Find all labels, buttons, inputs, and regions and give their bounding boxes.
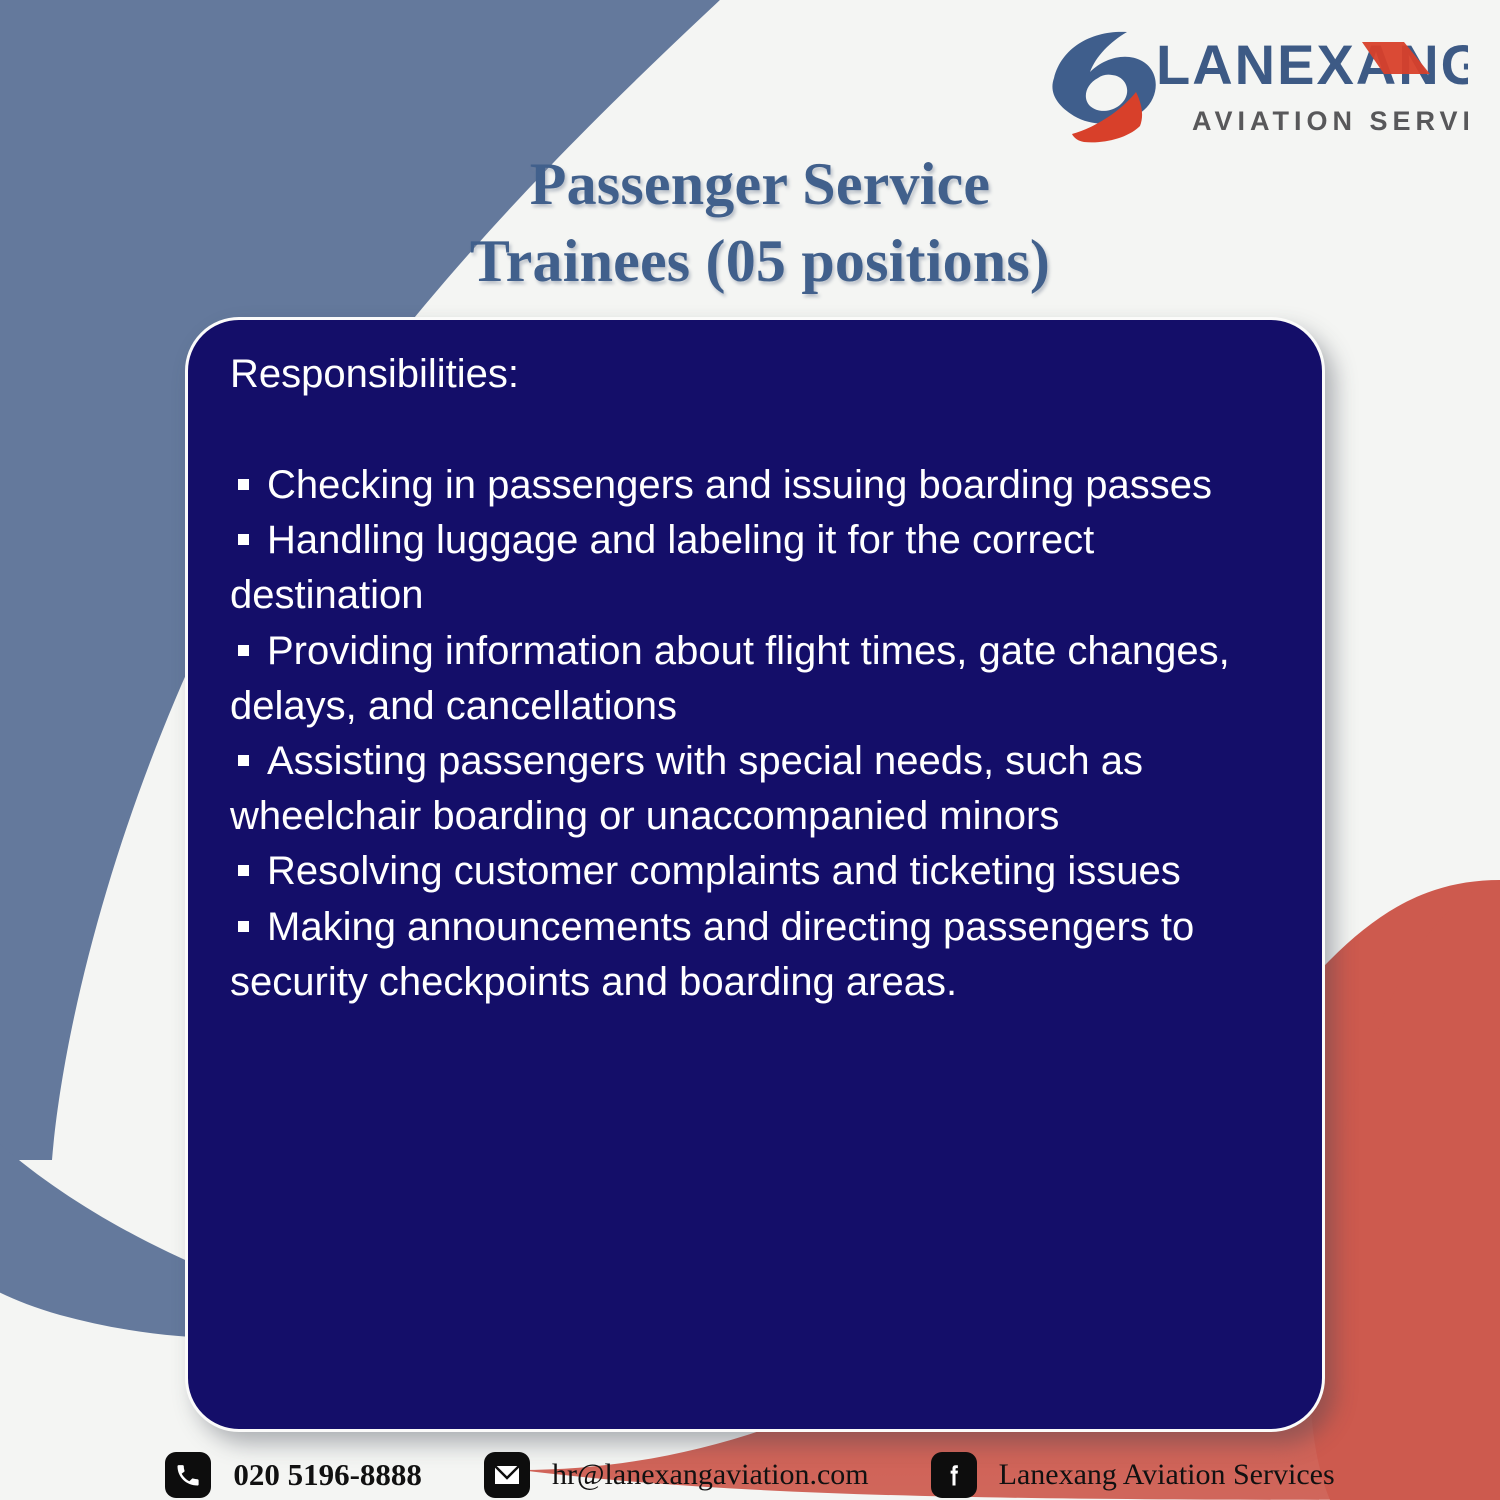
phone-icon (165, 1452, 211, 1498)
email-icon (484, 1452, 530, 1498)
facebook-icon (931, 1452, 977, 1498)
list-item: Resolving customer complaints and ticket… (230, 844, 1280, 899)
logo-tagline: AVIATION SERVICES (1192, 106, 1468, 136)
list-item: Providing information about flight times… (230, 624, 1280, 734)
logo-swoosh-six-icon (1052, 32, 1155, 143)
contact-facebook[interactable]: Lanexang Aviation Services (931, 1452, 1335, 1498)
list-item-text: Checking in passengers and issuing board… (267, 463, 1212, 507)
list-item-text: Resolving customer complaints and ticket… (267, 849, 1181, 893)
list-item: Checking in passengers and issuing board… (230, 458, 1280, 513)
page-title-line2: Trainees (05 positions) (180, 223, 1340, 300)
list-item-text: Handling luggage and labeling it for the… (230, 518, 1094, 617)
contact-phone[interactable]: 020 5196-8888 (165, 1452, 422, 1498)
list-item-text: Providing information about flight times… (230, 629, 1230, 728)
square-bullet-icon (238, 865, 249, 876)
square-bullet-icon (238, 755, 249, 766)
responsibilities-card: Responsibilities: Checking in passengers… (185, 317, 1325, 1432)
email-address: hr@lanexangaviation.com (552, 1458, 869, 1492)
square-bullet-icon (238, 534, 249, 545)
contact-email[interactable]: hr@lanexangaviation.com (484, 1452, 869, 1498)
page-title: Passenger Service Trainees (05 positions… (180, 146, 1340, 300)
company-logo: LANEXANG AVIATION SERVICES (1032, 26, 1468, 144)
list-item-text: Assisting passengers with special needs,… (230, 739, 1143, 838)
page-title-line1: Passenger Service (530, 151, 991, 217)
list-item: Assisting passengers with special needs,… (230, 734, 1280, 844)
list-item: Making announcements and directing passe… (230, 900, 1280, 1010)
facebook-page-name: Lanexang Aviation Services (999, 1458, 1335, 1492)
poster-canvas: LANEXANG AVIATION SERVICES Passenger Ser… (0, 0, 1500, 1500)
list-item: Handling luggage and labeling it for the… (230, 513, 1280, 623)
list-item-text: Making announcements and directing passe… (230, 905, 1194, 1004)
logo-wordmark: LANEXANG (1156, 33, 1468, 96)
square-bullet-icon (238, 645, 249, 656)
section-title: Responsibilities: (230, 350, 1280, 398)
phone-number: 020 5196-8888 (233, 1457, 422, 1493)
square-bullet-icon (238, 921, 249, 932)
square-bullet-icon (238, 479, 249, 490)
footer-contact-bar: 020 5196-8888 hr@lanexangaviation.com La… (0, 1446, 1500, 1500)
responsibilities-list: Checking in passengers and issuing board… (230, 458, 1280, 1010)
